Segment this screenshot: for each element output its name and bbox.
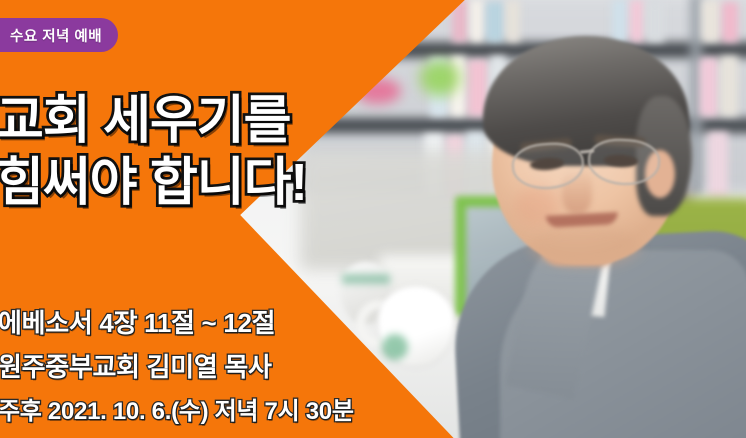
speaker-name: 원주중부교회 김미열 목사 xyxy=(0,347,272,384)
service-datetime: 주후 2021. 10. 6.(수) 저녁 7시 30분 xyxy=(0,391,354,426)
sermon-poster: 수요 저녁 예배 교회 세우기를 힘써야 합니다! 에베소서 4장 11절 ~ … xyxy=(0,0,746,438)
poster-text-layer: 수요 저녁 예배 교회 세우기를 힘써야 합니다! 에베소서 4장 11절 ~ … xyxy=(0,0,746,438)
service-type-badge: 수요 저녁 예배 xyxy=(0,18,118,52)
scripture-reference: 에베소서 4장 11절 ~ 12절 xyxy=(0,303,275,340)
page-title-line-2: 힘써야 합니다! xyxy=(0,140,307,215)
